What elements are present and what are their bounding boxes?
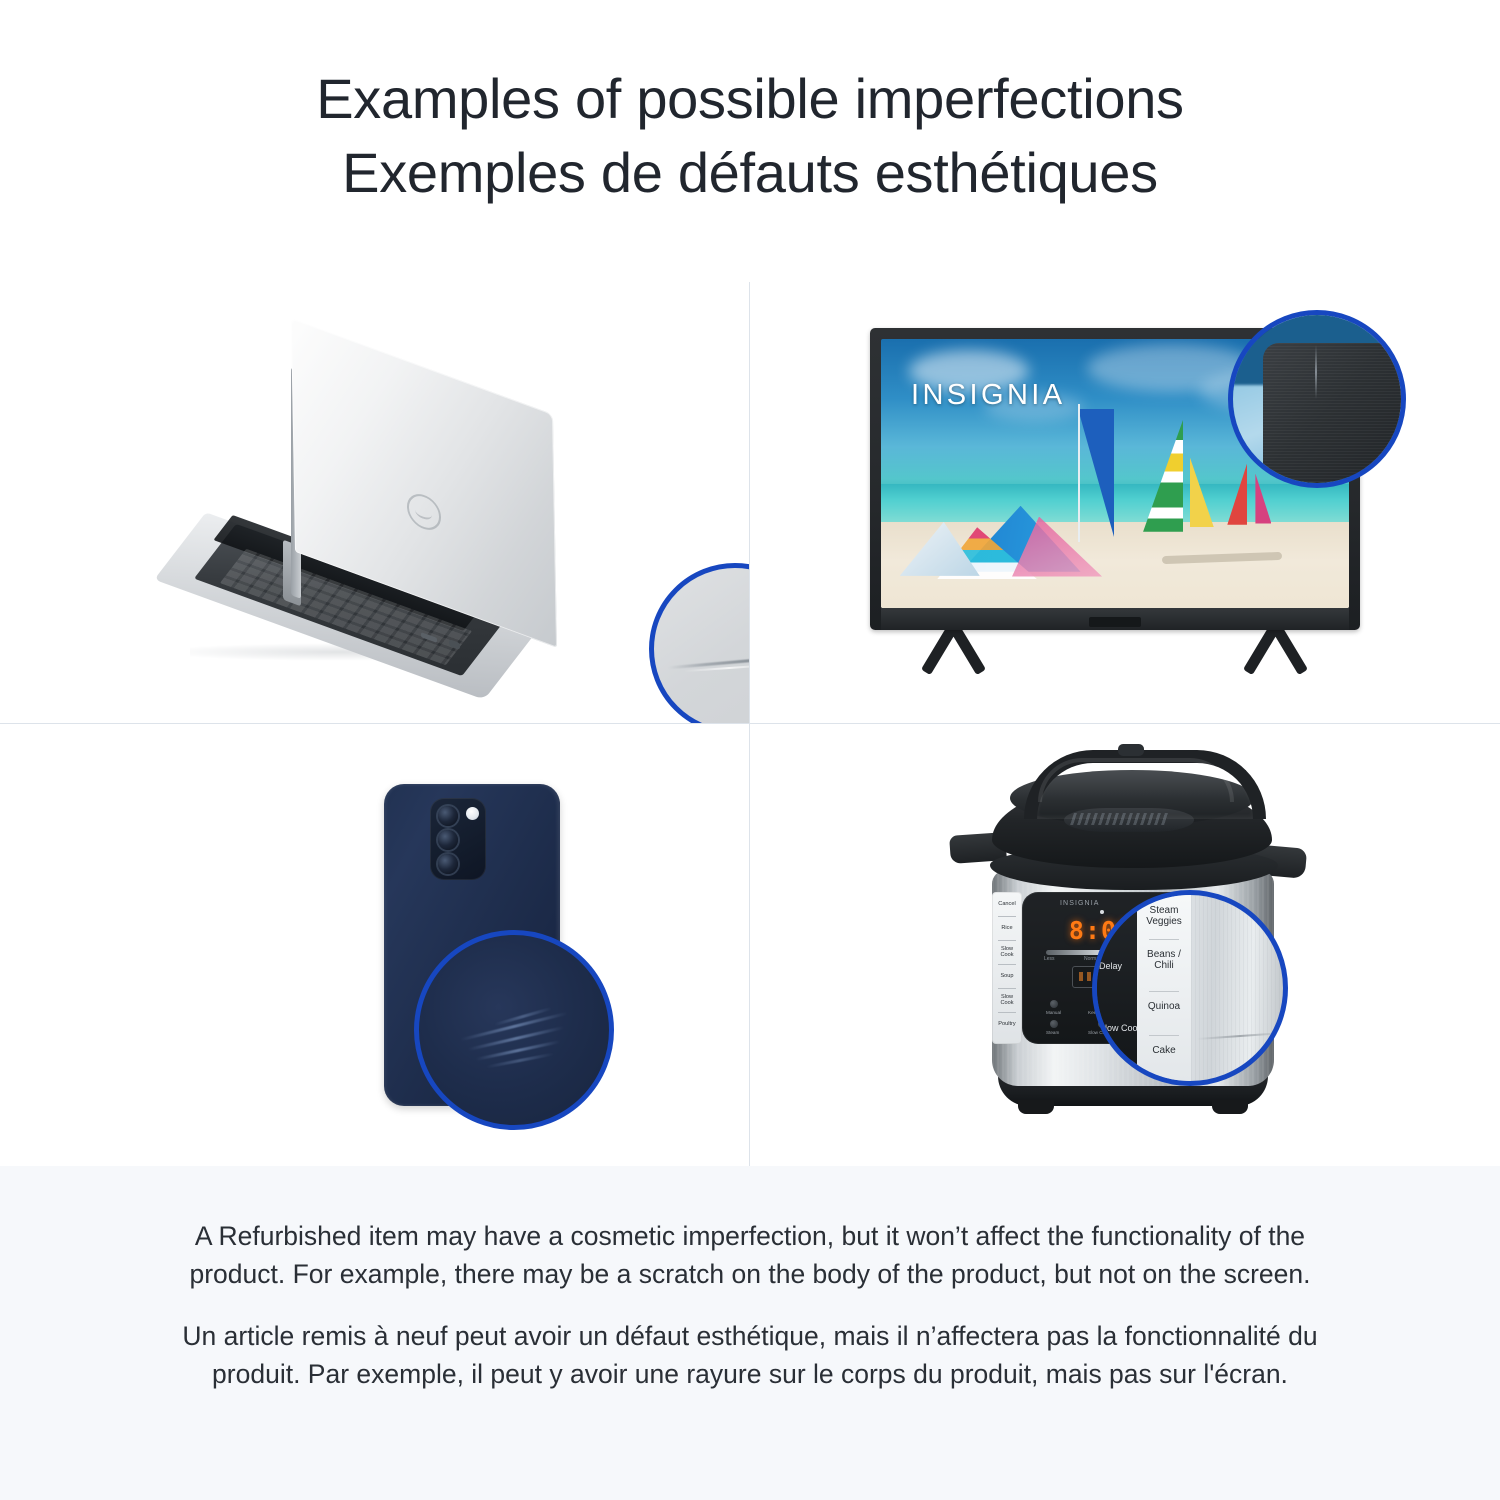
divider (1149, 939, 1179, 940)
cooker-mag-steel-texture (1191, 895, 1288, 1086)
divider (998, 940, 1016, 941)
title-line-french: Exemples de défauts esthétiques (0, 136, 1500, 210)
sea (881, 484, 1349, 522)
cooker-mag-left-label: Delay (1099, 961, 1122, 971)
divider (1149, 991, 1179, 992)
cooker-mag-button: Cake (1137, 1045, 1191, 1056)
sail-mast (1078, 404, 1080, 542)
cooker-round-button[interactable] (1050, 1000, 1058, 1008)
tv-foot-right (1230, 626, 1326, 678)
cooker-button[interactable]: Slow Cook (994, 990, 1020, 1010)
sail-blue-large (1078, 409, 1114, 537)
cooker-mag-button: Beans / Chili (1137, 949, 1191, 971)
footer-paragraph-french: Un article remis à neuf peut avoir un dé… (150, 1318, 1350, 1394)
example-cell-laptop (0, 282, 750, 724)
page-title: Examples of possible imperfections Exemp… (0, 62, 1500, 211)
slider-label-less: Less (1044, 956, 1055, 962)
tv-foot-left (908, 626, 1004, 678)
sail-green-striped (1143, 420, 1183, 532)
cooker-brand-label: INSIGNIA (1060, 900, 1100, 907)
phone-illustration (0, 724, 749, 1166)
cooker-mag-panel-edge (1097, 895, 1139, 1086)
cooker-left-button-strip[interactable]: Cancel Rice Slow Cook Soup Slow Cook Pou… (992, 892, 1022, 1044)
cooker-button[interactable]: Slow Cook (994, 942, 1020, 962)
divider (998, 964, 1016, 965)
cooker-foot-right (1212, 1100, 1248, 1114)
phone-camera-module (430, 798, 486, 880)
camera-lens-icon (438, 830, 458, 850)
scratch-magnifier-cooker: Delay Slow Cook Steam Veggies Beans / Ch… (1092, 890, 1288, 1086)
cooker-mag-button: Steam Veggies (1137, 905, 1191, 927)
examples-grid: INSIGNIA (0, 282, 1500, 1166)
refurbished-imperfections-infographic: Examples of possible imperfections Exemp… (0, 0, 1500, 1500)
divider (998, 988, 1016, 989)
cooker-round-button-label: Manual (1046, 1010, 1061, 1015)
divider (998, 1012, 1016, 1013)
cooker-round-button-label: Steam (1046, 1030, 1059, 1035)
cooker-mag-button: Quinoa (1137, 1001, 1191, 1012)
cooker-button[interactable]: Soup (994, 966, 1020, 986)
camera-flash-icon (466, 807, 479, 820)
cooker-round-button[interactable] (1050, 1020, 1058, 1028)
cooker-button[interactable]: Poultry (994, 1014, 1020, 1034)
footer-description: A Refurbished item may have a cosmetic i… (0, 1166, 1500, 1500)
cooker-foot-left (1018, 1100, 1054, 1114)
tv-illustration: INSIGNIA (750, 282, 1500, 723)
example-cell-tv: INSIGNIA (750, 282, 1500, 724)
scratch-magnifier-phone (414, 930, 614, 1130)
example-cell-pressure-cooker: Cancel Rice Slow Cook Soup Slow Cook Pou… (750, 724, 1500, 1166)
example-cell-phone (0, 724, 750, 1166)
cooker-pressure-valve-icon (1118, 744, 1144, 756)
pressure-cooker-illustration: Cancel Rice Slow Cook Soup Slow Cook Pou… (750, 724, 1500, 1166)
scratch-magnifier-tv (1228, 310, 1406, 488)
tv-screen-brand-logo: INSIGNIA (911, 379, 1066, 412)
cooker-button[interactable]: Cancel (994, 894, 1020, 914)
camera-lens-icon (438, 854, 458, 874)
scratch-mark (1315, 345, 1317, 399)
tv-brand-badge (1089, 617, 1141, 627)
scratch-mark (468, 1026, 564, 1051)
cooker-mag-left-label: Slow Cook (1099, 1023, 1142, 1033)
cooker-button[interactable]: Rice (994, 918, 1020, 938)
cooker-handle-highlight (1038, 758, 1234, 802)
laptop-illustration (0, 282, 749, 723)
divider (1149, 1035, 1179, 1036)
scratch-magnifier-laptop (649, 563, 750, 724)
title-line-english: Examples of possible imperfections (0, 62, 1500, 136)
divider (998, 916, 1016, 917)
footer-paragraph-english: A Refurbished item may have a cosmetic i… (150, 1218, 1350, 1294)
camera-lens-icon (438, 806, 458, 826)
tv-mag-texture (1263, 343, 1406, 488)
